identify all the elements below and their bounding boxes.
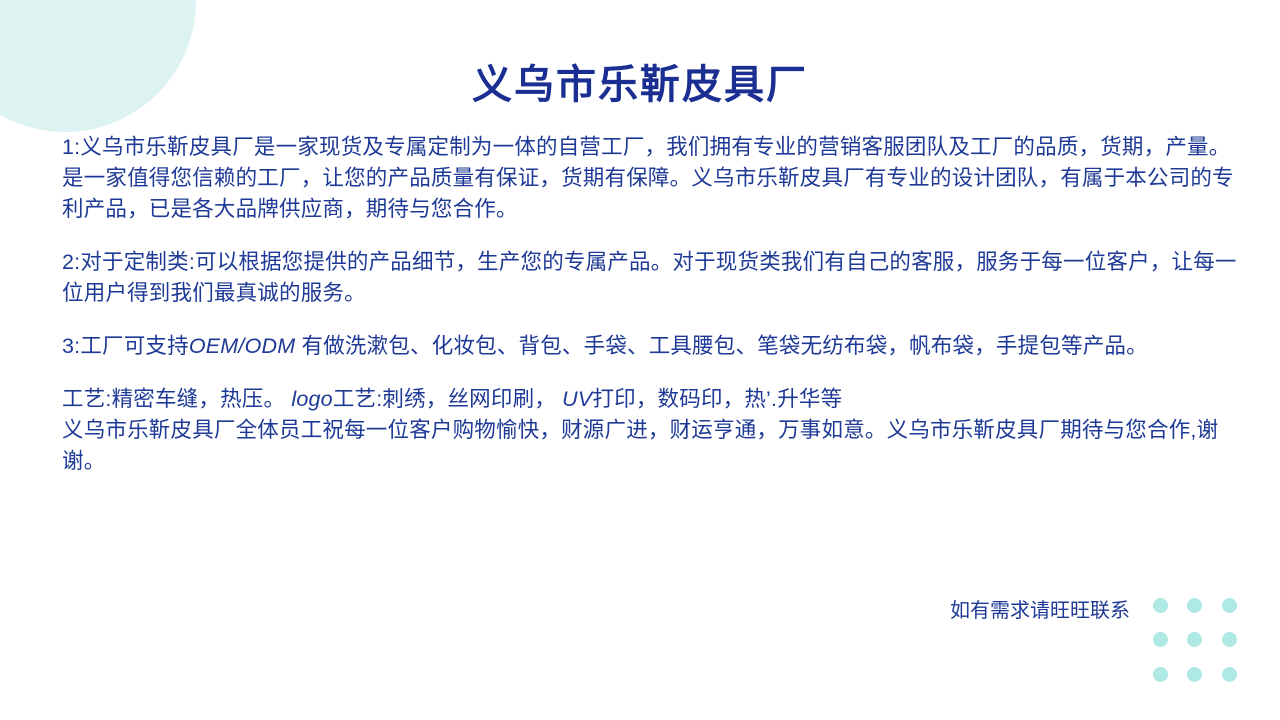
paragraph-4-prefix: 工艺:精密车缝，热压。 <box>62 387 291 411</box>
dot <box>1187 667 1202 682</box>
dot <box>1222 632 1237 647</box>
dot <box>1153 598 1168 613</box>
paragraph-3-prefix: 3:工厂可支持 <box>62 334 189 358</box>
page-title: 义乌市乐靳皮具厂 <box>0 61 1280 109</box>
slide-canvas: 义乌市乐靳皮具厂 1:义乌市乐靳皮具厂是一家现货及专属定制为一体的自营工厂，我们… <box>0 0 1280 720</box>
dot <box>1222 598 1237 613</box>
paragraph-2: 2:对于定制类:可以根据您提供的产品细节，生产您的专属产品。对于现货类我们有自己… <box>62 247 1238 309</box>
paragraph-4: 工艺:精密车缝，热压。 logo工艺:刺绣，丝网印刷， UV打印，数码印，热’.… <box>62 384 1238 415</box>
dot <box>1153 667 1168 682</box>
paragraph-5: 义乌市乐靳皮具厂全体员工祝每一位客户购物愉快，财源广进，财运亨通，万事如意。义乌… <box>62 415 1238 477</box>
paragraph-3: 3:工厂可支持OEM/ODM 有做洗漱包、化妆包、背包、手袋、工具腰包、笔袋无纺… <box>62 331 1238 362</box>
dot <box>1187 632 1202 647</box>
paragraph-4-emphasis-logo: logo <box>291 387 332 411</box>
paragraph-4-suffix: 打印，数码印，热’.升华等 <box>592 387 842 411</box>
footer-contact-note: 如有需求请旺旺联系 <box>840 597 1130 625</box>
body-content: 1:义乌市乐靳皮具厂是一家现货及专属定制为一体的自营工厂，我们拥有专业的营销客服… <box>62 132 1238 477</box>
decorative-dot-grid <box>1143 588 1247 692</box>
dot <box>1153 632 1168 647</box>
paragraph-3-suffix: 有做洗漱包、化妆包、背包、手袋、工具腰包、笔袋无纺布袋，帆布袋，手提包等产品。 <box>295 334 1147 358</box>
dot <box>1222 667 1237 682</box>
paragraph-3-emphasis: OEM/ODM <box>189 334 296 358</box>
dot <box>1187 598 1202 613</box>
paragraph-4-emphasis-uv: UV <box>562 387 592 411</box>
paragraph-4-middle: 工艺:刺绣，丝网印刷， <box>333 387 562 411</box>
paragraph-1: 1:义乌市乐靳皮具厂是一家现货及专属定制为一体的自营工厂，我们拥有专业的营销客服… <box>62 132 1238 225</box>
